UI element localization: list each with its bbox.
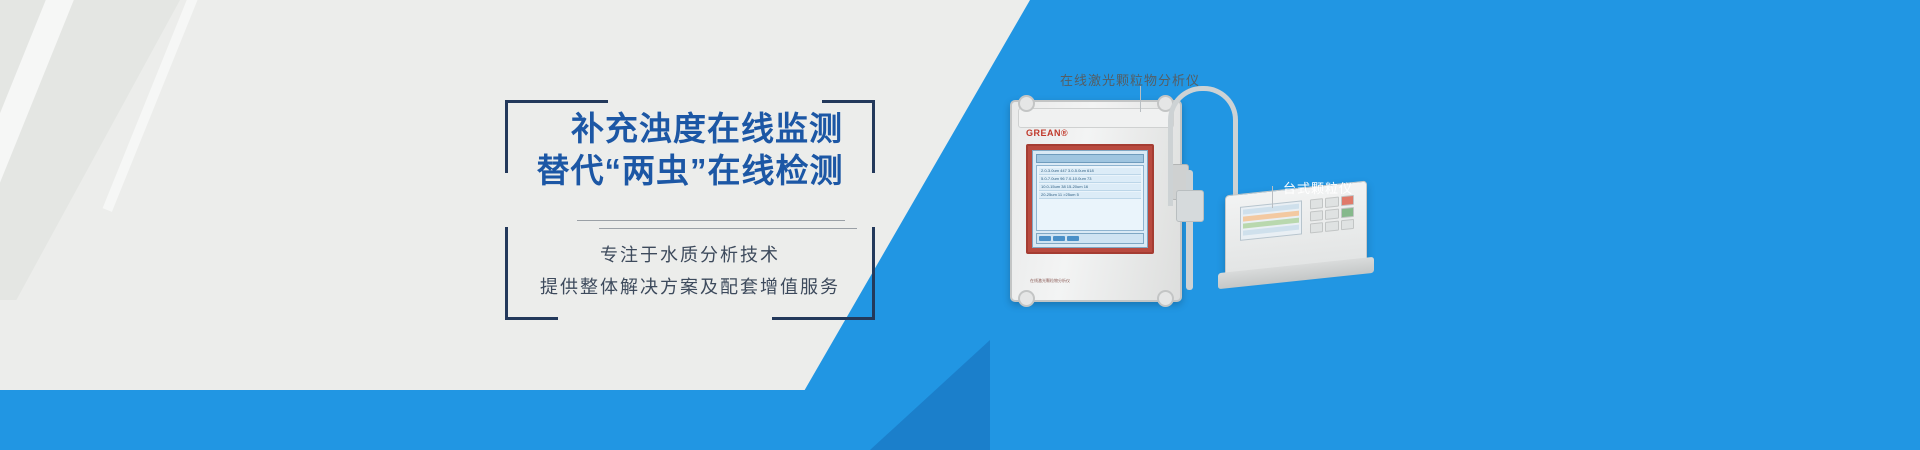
online-laser-particle-analyzer: GREAN® 2.0-3.0um 447 3.0-5.0um 618 5.0-7…: [1010, 100, 1182, 302]
desktop-keypad: [1310, 195, 1354, 234]
analyzer-mount-hole: [1018, 290, 1035, 307]
callout-label-analyzer: 在线激光颗粒物分析仪: [1060, 70, 1200, 89]
keypad-key: [1325, 221, 1338, 232]
headline-divider: [577, 220, 857, 232]
lcd-button-bar: [1036, 233, 1144, 244]
analyzer-screen-bezel: 2.0-3.0um 447 3.0-5.0um 618 5.0-7.0um 96…: [1026, 144, 1154, 254]
lcd-row: 10.0-15um 38 15-20um 16: [1039, 184, 1141, 191]
headline-line-2: 替代“两虫”在线检测: [505, 150, 875, 192]
keypad-key: [1325, 209, 1338, 220]
background-blue-bottom-strip: [0, 390, 900, 450]
analyzer-lid: [1018, 108, 1174, 128]
analyzer-mount-hole: [1157, 290, 1174, 307]
desktop-base: [1218, 257, 1374, 289]
callout-leader-line-analyzer: [1140, 86, 1141, 112]
desktop-screen: [1240, 200, 1302, 241]
keypad-key: [1341, 207, 1354, 218]
sample-tube: [1168, 86, 1238, 206]
keypad-key: [1310, 210, 1323, 221]
analyzer-mount-hole: [1018, 95, 1035, 112]
sample-tube-leg: [1186, 170, 1193, 290]
subtitle-line-2: 提供整体解决方案及配套增值服务: [505, 272, 875, 304]
lcd-row: 5.0-7.0um 96 7.0-10.0um 73: [1039, 176, 1141, 183]
lcd-row: 20-25um 11 >25um 5: [1039, 192, 1141, 199]
keypad-key: [1341, 219, 1354, 230]
lcd-button: [1053, 236, 1065, 241]
brand-logo: GREAN®: [1026, 128, 1068, 138]
keypad-key: [1325, 197, 1338, 208]
analyzer-lcd: 2.0-3.0um 447 3.0-5.0um 618 5.0-7.0um 96…: [1032, 150, 1148, 248]
callout-label-desktop: 台式颗粒仪: [1283, 178, 1353, 197]
lcd-button: [1067, 236, 1079, 241]
headline-line-1: 补充浊度在线监测: [505, 108, 875, 150]
subtitle-line-1: 专注于水质分析技术: [505, 240, 875, 272]
lcd-title-bar: [1036, 154, 1144, 163]
subtitle: 专注于水质分析技术 提供整体解决方案及配套增值服务: [505, 240, 875, 303]
lcd-button: [1039, 236, 1051, 241]
divider-line-top: [577, 220, 845, 221]
sample-tube-cap: [1176, 190, 1204, 222]
hero-banner: 补充浊度在线监测 替代“两虫”在线检测 专注于水质分析技术 提供整体解决方案及配…: [0, 0, 1920, 450]
callout-leader-line-desktop: [1272, 186, 1273, 208]
headline-block: 补充浊度在线监测 替代“两虫”在线检测 专注于水质分析技术 提供整体解决方案及配…: [505, 100, 875, 320]
divider-line-bottom: [599, 228, 857, 229]
keypad-key: [1310, 198, 1323, 209]
keypad-key: [1310, 222, 1323, 233]
analyzer-panel-caption: 在线激光颗粒物分析仪: [1030, 278, 1070, 284]
lcd-row: 2.0-3.0um 447 3.0-5.0um 618: [1039, 168, 1141, 175]
lcd-readout-grid: 2.0-3.0um 447 3.0-5.0um 618 5.0-7.0um 96…: [1036, 165, 1144, 231]
headline: 补充浊度在线监测 替代“两虫”在线检测: [505, 108, 875, 192]
product-group: GREAN® 2.0-3.0um 447 3.0-5.0um 618 5.0-7…: [990, 70, 1440, 360]
